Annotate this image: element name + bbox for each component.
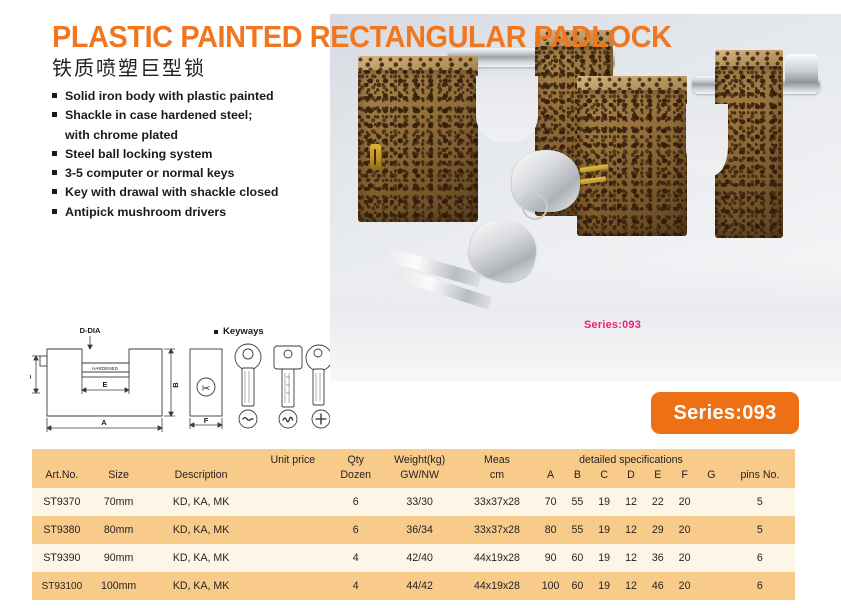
th-spec-e: E xyxy=(644,466,671,488)
th-detailed-specifications: detailed specifications xyxy=(537,449,725,466)
th-description: Description xyxy=(145,466,256,488)
cell-spec-f: 20 xyxy=(671,516,698,544)
square-bullet-icon xyxy=(52,93,57,98)
feature-text: Key with drawal with shackle closed xyxy=(65,185,278,199)
table-row: ST9390 90mm KD, KA, MK 4 42/40 44x19x28 … xyxy=(32,544,795,572)
cell-description: KD, KA, MK xyxy=(145,544,256,572)
cell-spec-b: 55 xyxy=(564,488,591,516)
feature-item: Shackle in case hardened steel; xyxy=(52,106,327,125)
th-cm: cm xyxy=(457,466,537,488)
cell-spec-g xyxy=(698,544,725,572)
cell-spec-b: 55 xyxy=(564,516,591,544)
feature-text: 3-5 computer or normal keys xyxy=(65,166,234,180)
cell-size: 90mm xyxy=(92,544,146,572)
table-header: Unit price Qty Weight(kg) Meas detailed … xyxy=(32,449,795,488)
dim-label-b: B xyxy=(171,382,180,388)
square-bullet-icon xyxy=(52,112,57,117)
cell-spec-e: 46 xyxy=(644,572,671,600)
table-row: ST9380 80mm KD, KA, MK 6 36/34 33x37x28 … xyxy=(32,516,795,544)
cell-meas: 44x19x28 xyxy=(457,572,537,600)
cell-spec-c: 19 xyxy=(591,544,618,572)
th-spec-b: B xyxy=(564,466,591,488)
page-title: PLASTIC PAINTED RECTANGULAR PADLOCK xyxy=(52,20,672,53)
th-size: Size xyxy=(92,466,146,488)
square-bullet-icon xyxy=(52,151,57,156)
cell-spec-f: 20 xyxy=(671,488,698,516)
cell-description: KD, KA, MK xyxy=(145,572,256,600)
technical-drawing-svg: ✂ D-DIA HARDENED A B C E F xyxy=(30,315,330,440)
dim-label-a: A xyxy=(101,418,107,427)
th-qty: Qty xyxy=(329,449,383,466)
th-spec-a: A xyxy=(537,466,564,488)
cell-art-no: ST93100 xyxy=(32,572,92,600)
dim-label-c: C xyxy=(30,374,33,380)
cell-pins: 5 xyxy=(725,488,795,516)
cell-pins: 6 xyxy=(725,572,795,600)
feature-text: Solid iron body with plastic painted xyxy=(65,89,274,103)
th-blank-artno xyxy=(32,449,92,466)
cell-description: KD, KA, MK xyxy=(145,488,256,516)
cell-spec-e: 29 xyxy=(644,516,671,544)
cell-spec-d: 12 xyxy=(618,544,645,572)
cell-spec-d: 12 xyxy=(618,488,645,516)
cell-spec-a: 100 xyxy=(537,572,564,600)
cell-unit-price xyxy=(257,488,329,516)
table-body: ST9370 70mm KD, KA, MK 6 33/30 33x37x28 … xyxy=(32,488,795,600)
cell-unit-price xyxy=(257,544,329,572)
cell-spec-f: 20 xyxy=(671,572,698,600)
cell-spec-g xyxy=(698,516,725,544)
square-bullet-icon xyxy=(52,170,57,175)
square-bullet-icon xyxy=(52,189,57,194)
cell-spec-c: 19 xyxy=(591,516,618,544)
cell-pins: 5 xyxy=(725,516,795,544)
th-pins-no: pins No. xyxy=(725,466,795,488)
cell-meas: 33x37x28 xyxy=(457,488,537,516)
specifications-table: Unit price Qty Weight(kg) Meas detailed … xyxy=(32,449,795,600)
th-dozen: Dozen xyxy=(329,466,383,488)
cell-qty-dozen: 4 xyxy=(329,572,383,600)
cell-spec-b: 60 xyxy=(564,572,591,600)
cell-qty-dozen: 6 xyxy=(329,488,383,516)
feature-text: Antipick mushroom drivers xyxy=(65,205,226,219)
cell-spec-a: 90 xyxy=(537,544,564,572)
th-spec-c: C xyxy=(591,466,618,488)
photo-series-tag: Series:093 xyxy=(584,319,641,331)
keyway-glyph-side: ✂ xyxy=(201,382,210,395)
cell-size: 100mm xyxy=(92,572,146,600)
square-bullet-icon xyxy=(214,330,218,334)
feature-item: 3-5 computer or normal keys xyxy=(52,164,327,183)
th-spec-d: D xyxy=(618,466,645,488)
feature-text: with chrome plated xyxy=(65,128,178,142)
keyways-text: Keyways xyxy=(223,326,264,337)
th-unit-price-2 xyxy=(257,466,329,488)
keyhole-left xyxy=(370,144,381,170)
th-unit-price: Unit price xyxy=(257,449,329,466)
cell-art-no: ST9380 xyxy=(32,516,92,544)
cell-qty-dozen: 4 xyxy=(329,544,383,572)
key-ring xyxy=(522,194,548,220)
dim-label-hardened: HARDENED xyxy=(92,366,118,371)
th-blank-size xyxy=(92,449,146,466)
feature-text: Steel ball locking system xyxy=(65,147,212,161)
feature-item: Steel ball locking system xyxy=(52,145,327,164)
cell-weight: 42/40 xyxy=(383,544,457,572)
cell-spec-d: 12 xyxy=(618,516,645,544)
th-gw-nw: GW/NW xyxy=(383,466,457,488)
th-blank-pins xyxy=(725,449,795,466)
dim-label-d-dia: D-DIA xyxy=(80,326,101,335)
cell-size: 80mm xyxy=(92,516,146,544)
cell-weight: 36/34 xyxy=(383,516,457,544)
padlock-right-body xyxy=(577,90,687,236)
cell-description: KD, KA, MK xyxy=(145,516,256,544)
table-row: ST9370 70mm KD, KA, MK 6 33/30 33x37x28 … xyxy=(32,488,795,516)
cell-spec-a: 70 xyxy=(537,488,564,516)
dim-label-f: F xyxy=(204,416,209,425)
keyways-label: Keyways xyxy=(214,326,264,337)
technical-drawing: ✂ D-DIA HARDENED A B C E F xyxy=(30,315,330,440)
cell-pins: 6 xyxy=(725,544,795,572)
cell-meas: 44x19x28 xyxy=(457,544,537,572)
page-subtitle-chinese: 铁质喷塑巨型锁 xyxy=(52,57,206,81)
dim-label-e: E xyxy=(102,380,107,389)
table-header-row-2: Art.No. Size Description Dozen GW/NW cm … xyxy=(32,466,795,488)
th-art-no: Art.No. xyxy=(32,466,92,488)
shackle-cap-right xyxy=(785,54,818,92)
cell-unit-price xyxy=(257,516,329,544)
cell-spec-b: 60 xyxy=(564,544,591,572)
cell-meas: 33x37x28 xyxy=(457,516,537,544)
cell-spec-g xyxy=(698,488,725,516)
th-weight: Weight(kg) xyxy=(383,449,457,466)
th-meas: Meas xyxy=(457,449,537,466)
padlock-left-notch xyxy=(476,76,538,142)
feature-item-continuation: with chrome plated xyxy=(52,126,327,145)
cell-art-no: ST9390 xyxy=(32,544,92,572)
cell-spec-c: 19 xyxy=(591,572,618,600)
th-spec-g: G xyxy=(698,466,725,488)
square-bullet-icon xyxy=(52,209,57,214)
cell-spec-e: 22 xyxy=(644,488,671,516)
cell-weight: 33/30 xyxy=(383,488,457,516)
cell-unit-price xyxy=(257,572,329,600)
table-row: ST93100 100mm KD, KA, MK 4 44/42 44x19x2… xyxy=(32,572,795,600)
feature-item: Solid iron body with plastic painted xyxy=(52,87,327,106)
cell-spec-d: 12 xyxy=(618,572,645,600)
th-spec-f: F xyxy=(671,466,698,488)
feature-item: Antipick mushroom drivers xyxy=(52,203,327,222)
cell-spec-c: 19 xyxy=(591,488,618,516)
product-photo: Series:093 xyxy=(330,14,841,381)
cell-spec-a: 80 xyxy=(537,516,564,544)
feature-list: Solid iron body with plastic painted Sha… xyxy=(52,87,327,222)
cell-spec-e: 36 xyxy=(644,544,671,572)
th-blank-description xyxy=(145,449,256,466)
cell-art-no: ST9370 xyxy=(32,488,92,516)
cell-weight: 44/42 xyxy=(383,572,457,600)
table-header-row-1: Unit price Qty Weight(kg) Meas detailed … xyxy=(32,449,795,466)
feature-item: Key with drawal with shackle closed xyxy=(52,183,327,202)
cell-spec-g xyxy=(698,572,725,600)
series-badge: Series:093 xyxy=(651,392,799,434)
cell-spec-f: 20 xyxy=(671,544,698,572)
feature-text: Shackle in case hardened steel; xyxy=(65,108,252,122)
cell-size: 70mm xyxy=(92,488,146,516)
padlock-right-notch xyxy=(686,104,728,176)
cell-qty-dozen: 6 xyxy=(329,516,383,544)
